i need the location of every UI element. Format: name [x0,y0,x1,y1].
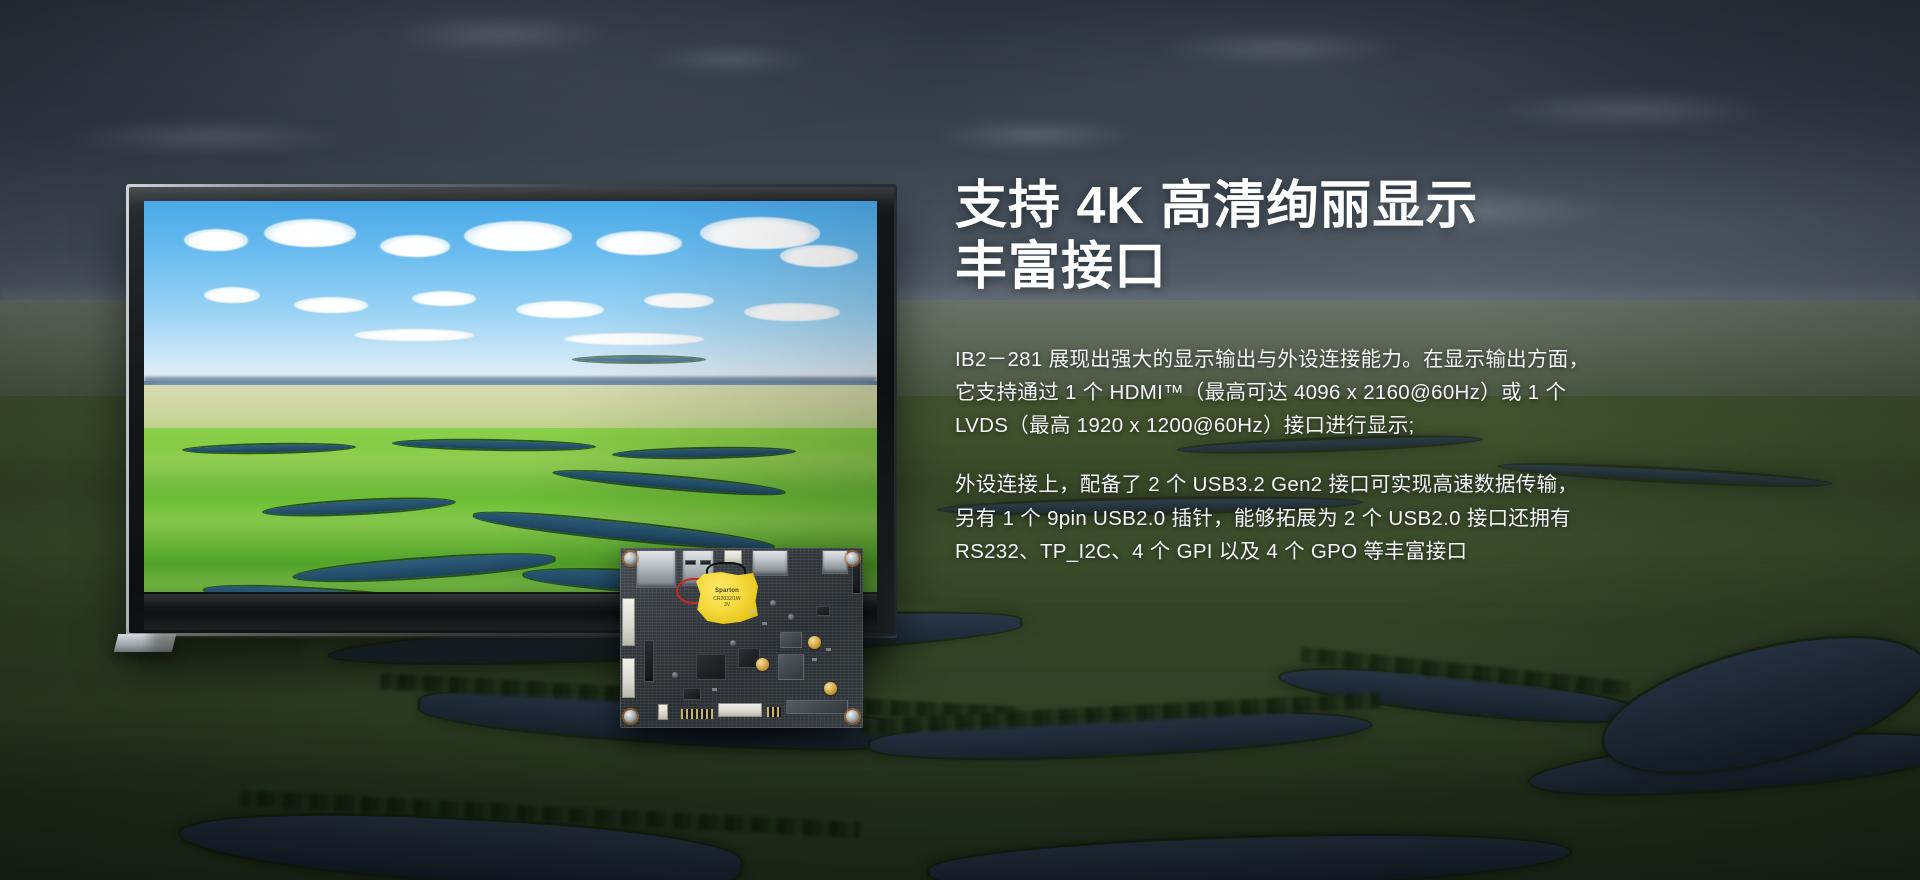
screen-cloud-icon [744,303,840,321]
pcb-flash-chip [683,688,701,700]
pcb-soc-chip [696,654,726,680]
screen-pale-plain [144,385,877,432]
headline-line-2: 丰富接口 [955,237,1595,298]
screen-cloud-icon [264,219,356,247]
pcb-capacitor [730,640,736,646]
pcb-sata-slot [644,640,654,682]
background-cloud-icon [60,120,360,154]
pcb-mount-screw [846,710,859,723]
pcb-hdmi-port [752,550,788,576]
battery-label-line3: 3V [724,602,730,608]
circuit-board: Sparton CR2032/1W 3V [620,548,863,728]
screen-cloud-icon [354,329,474,341]
screen-cloud-icon [412,291,476,306]
pcb-sodimm-slot [786,700,848,714]
pcb-ethernet-port [636,550,676,588]
screen-cloud-icon [596,231,682,255]
screen-cloud-icon [204,287,260,303]
pcb-standoff [808,636,821,649]
pcb-resistor [812,658,817,661]
background-cloud-icon [1150,30,1410,66]
pcb-resistor [750,610,755,613]
background-cloud-icon [640,46,820,72]
pcb-mount-screw [846,552,859,565]
pcb-power-connector [658,704,668,720]
pcb-panel-connector [622,658,635,698]
monitor-screen [144,201,877,592]
screen-cloud-icon [464,221,572,251]
paragraph-peripheral-io: 外设连接上，配备了 2 个 USB3.2 Gen2 接口可实现高速数据传输，另有… [955,468,1595,568]
pcb-resistor [712,688,717,691]
paragraph-display-output: IB2－281 展现出强大的显示输出与外设连接能力。在显示输出方面，它支持通过 … [955,343,1595,443]
background-cloud-icon [930,120,1140,150]
pcb-mount-screw [624,552,637,565]
screen-cloud-icon [780,245,858,267]
screen-cloud-icon [184,229,248,251]
pcb-gpio-header [680,708,714,720]
pcb-controller-chip [778,654,804,680]
page-title: 支持 4K 高清绚丽显示 丰富接口 [955,176,1595,299]
headline-line-1: 支持 4K 高清绚丽显示 [955,176,1595,237]
pcb-usb3-tongue [685,560,696,565]
banner-stage: Sparton CR2032/1W 3V [0,0,1920,880]
copy-column: 支持 4K 高清绚丽显示 丰富接口 IB2－281 展现出强大的显示输出与外设连… [955,176,1595,568]
pcb-rs232-header [766,706,782,718]
screen-cloud-icon [294,297,368,313]
pcb-lvds-connector [622,598,635,646]
pcb-capacitor [788,614,794,620]
pcb-capacitor [770,600,776,606]
battery-label-line1: Sparton [715,588,739,596]
screen-river [574,357,704,362]
pcb-coin-battery: Sparton CR2032/1W 3V [696,572,758,624]
pcb-usb2-9pin-header [718,703,762,717]
screen-cloud-icon [516,301,604,318]
pcb-shield-can [780,632,802,648]
pcb-dc-jack [822,550,848,574]
pcb-standoff [756,658,769,671]
screen-cloud-icon [700,217,820,249]
screen-cloud-icon [644,293,714,308]
pcb-resistor [826,648,831,651]
pcb-standoff [824,682,837,695]
background-cloud-icon [380,14,620,54]
screen-cloud-icon [380,235,450,257]
pcb-capacitor [672,672,678,678]
screen-cloud-icon [564,333,704,345]
background-cloud-icon [1480,90,1780,130]
body-copy: IB2－281 展现出强大的显示输出与外设连接能力。在显示输出方面，它支持通过 … [955,343,1595,568]
pcb-resistor [762,622,767,625]
pcb-mount-screw [624,710,637,723]
pcb-regulator [816,606,830,616]
